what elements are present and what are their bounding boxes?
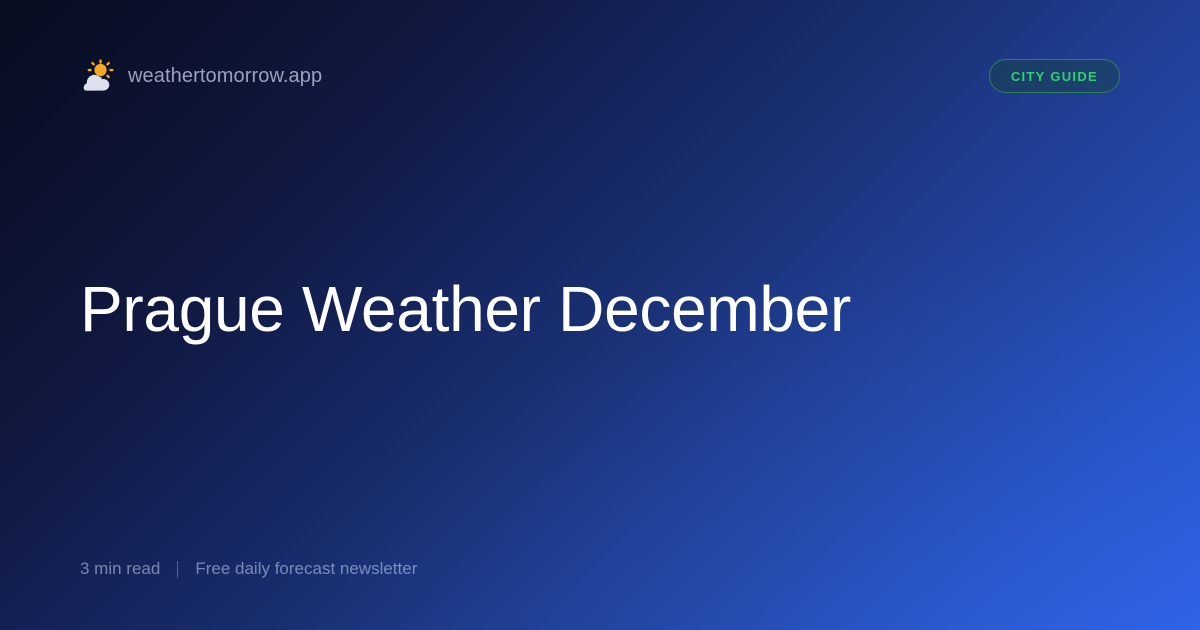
read-time-label: 3 min read [80, 559, 160, 579]
brand-logo[interactable]: weathertomorrow.app [80, 59, 322, 93]
newsletter-label: Free daily forecast newsletter [195, 559, 417, 579]
og-card: weathertomorrow.app CITY GUIDE Prague We… [0, 0, 1200, 630]
sun-behind-cloud-icon [80, 59, 114, 93]
category-badge-city-guide[interactable]: CITY GUIDE [989, 59, 1120, 93]
article-meta: 3 min read Free daily forecast newslette… [80, 558, 1120, 580]
main-content: Prague Weather December [80, 96, 1120, 558]
meta-separator [177, 561, 178, 578]
brand-name: weathertomorrow.app [128, 65, 322, 88]
page-title: Prague Weather December [80, 274, 1080, 346]
page-header: weathertomorrow.app CITY GUIDE [80, 56, 1120, 96]
